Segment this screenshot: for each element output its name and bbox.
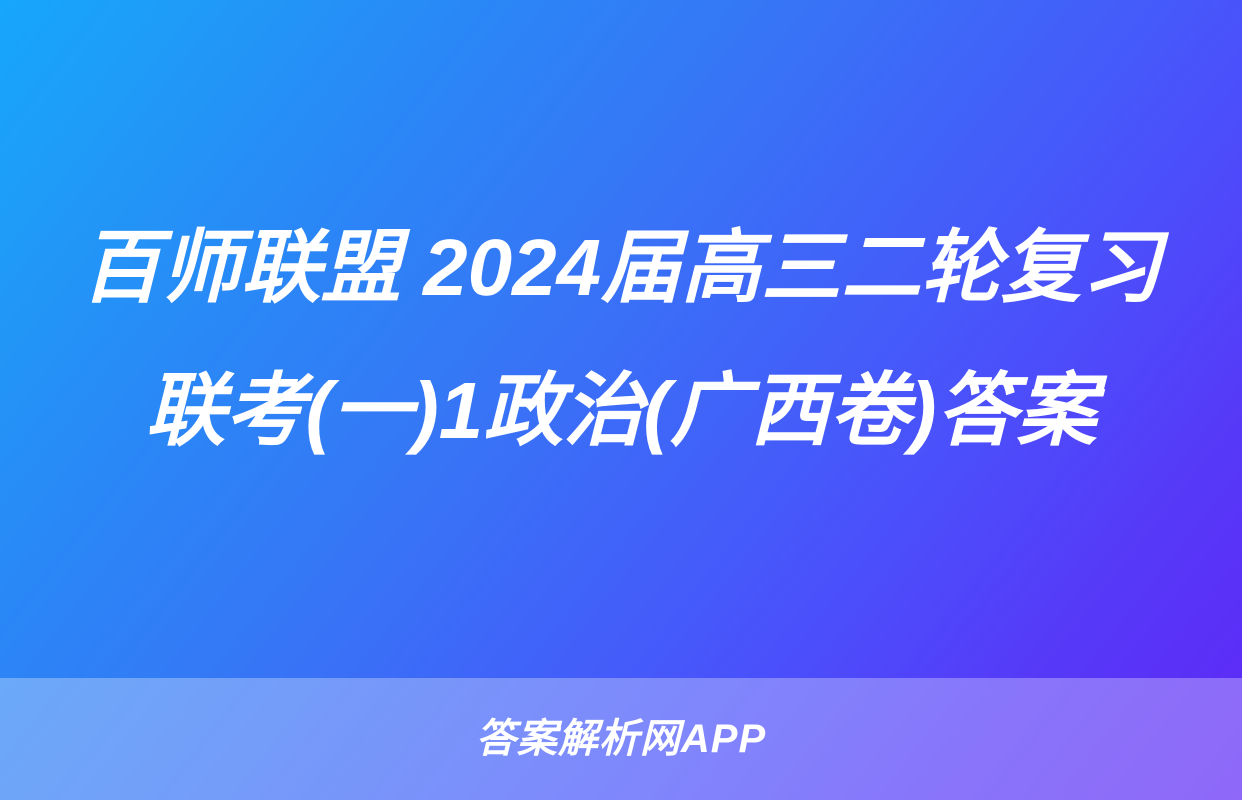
title-container: 百师联盟 2024届高三二轮复习联考(一)1政治(广西卷)答案 (0, 0, 1242, 678)
page-title: 百师联盟 2024届高三二轮复习联考(一)1政治(广西卷)答案 (79, 196, 1163, 482)
watermark-app-label: 答案解析网APP (476, 719, 766, 759)
watermark-band: 答案解析网APP (0, 678, 1242, 800)
answer-poster-card: 百师联盟 2024届高三二轮复习联考(一)1政治(广西卷)答案 答案解析网APP (0, 0, 1242, 800)
